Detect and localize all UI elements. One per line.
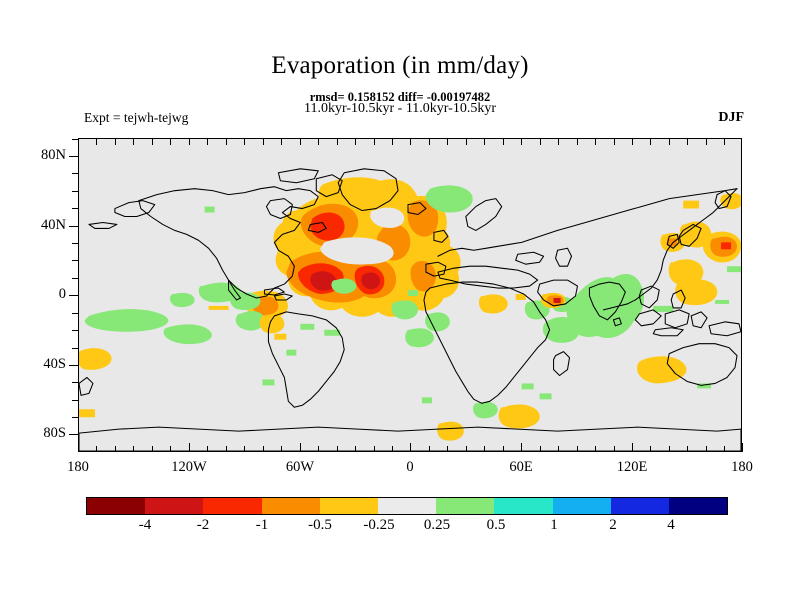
x-tick-label-120w: 120W <box>149 459 229 476</box>
y-tick-label-40s: 40S <box>16 356 66 373</box>
anomaly-southatl-amber <box>437 422 464 441</box>
colorbar-label--0.5: -0.5 <box>290 517 350 534</box>
anomaly-arabia-red <box>554 298 561 303</box>
colorbar-label-1: 1 <box>524 517 584 534</box>
x-tick-label-180w: 180 <box>38 459 118 476</box>
anomaly-pacific-small-amber <box>209 306 229 310</box>
colorbar-label-4: 4 <box>641 517 701 534</box>
colorbar-segment-0 <box>87 498 145 514</box>
page-title: Evaporation (in mm/day) <box>0 52 800 80</box>
anomaly-colombia-amber <box>260 314 285 333</box>
colorbar-label--1: -1 <box>232 517 292 534</box>
colorbar-segment-5 <box>378 498 436 514</box>
anomaly-madagascar-green <box>540 393 552 399</box>
anomaly-amazon-green <box>300 324 314 330</box>
anomaly-sahara-amber <box>479 294 508 313</box>
map-canvas <box>79 139 741 451</box>
colorbar-label-0.25: 0.25 <box>407 517 467 534</box>
colorbar-label-0.5: 0.5 <box>466 517 526 534</box>
colorbar-label-2: 2 <box>583 517 643 534</box>
colorbar-segment-4 <box>320 498 378 514</box>
anomaly-eq-pacific-green-5 <box>170 293 195 307</box>
colorbar-label--4: -4 <box>115 517 175 534</box>
anomaly-westpac-green <box>653 306 673 312</box>
colorbar-label--2: -2 <box>173 517 233 534</box>
x-tick-label-180e: 180 <box>702 459 782 476</box>
x-tick-label-120e: 120E <box>592 459 672 476</box>
anomaly-somalia-green <box>543 317 580 343</box>
colorbar-label--0.25: -0.25 <box>349 517 409 534</box>
map-plot-area <box>78 138 742 452</box>
anomaly-micronesia-green <box>715 300 729 304</box>
colorbar-segment-9 <box>611 498 669 514</box>
x-tick-label-0: 0 <box>370 459 450 476</box>
anomaly-southatl-green <box>422 397 432 403</box>
anomaly-gulfguinea-green <box>405 328 434 347</box>
colorbar-segment-6 <box>436 498 494 514</box>
anomaly-kuroshio-red <box>721 242 731 249</box>
y-tick-label-0: 0 <box>16 286 66 303</box>
anomaly-southind-green <box>522 383 534 389</box>
anomaly-chile-green <box>262 379 274 385</box>
colorbar-segment-10 <box>669 498 727 514</box>
x-tick-label-60e: 60E <box>481 459 561 476</box>
anomaly-eq-pacific-green-4 <box>230 292 261 310</box>
anomaly-alaska-green <box>205 207 215 213</box>
colorbar-segment-1 <box>145 498 203 514</box>
x-tick-label-60w: 60W <box>260 459 340 476</box>
anomaly-indonesia-green <box>727 266 741 272</box>
season-label: DJF <box>718 110 744 126</box>
anomaly-southpac-amber <box>499 404 540 428</box>
figure-root: Evaporation (in mm/day) rmsd= 0.158152 d… <box>0 0 800 600</box>
anomaly-peru-amber <box>274 334 286 340</box>
experiment-label: Expt = tejwh-tejwg <box>84 110 188 126</box>
anomaly-nz-amber <box>79 409 95 417</box>
colorbar-segment-7 <box>494 498 552 514</box>
colorbar-segment-8 <box>553 498 611 514</box>
anomaly-altiplano-green <box>286 350 296 356</box>
anomaly-okhotsk-amber <box>683 201 699 209</box>
colorbar-segment-3 <box>262 498 320 514</box>
y-tick-label-80n: 80N <box>16 147 66 164</box>
anomaly-capeverde-green <box>408 290 418 296</box>
y-tick-label-80s: 80S <box>16 425 66 442</box>
y-tick-label-40n: 40N <box>16 217 66 234</box>
colorbar-segment-2 <box>203 498 261 514</box>
anomaly-philippine-amber <box>675 279 717 305</box>
colorbar <box>86 497 728 515</box>
anomaly-westafrica-green <box>425 312 450 331</box>
